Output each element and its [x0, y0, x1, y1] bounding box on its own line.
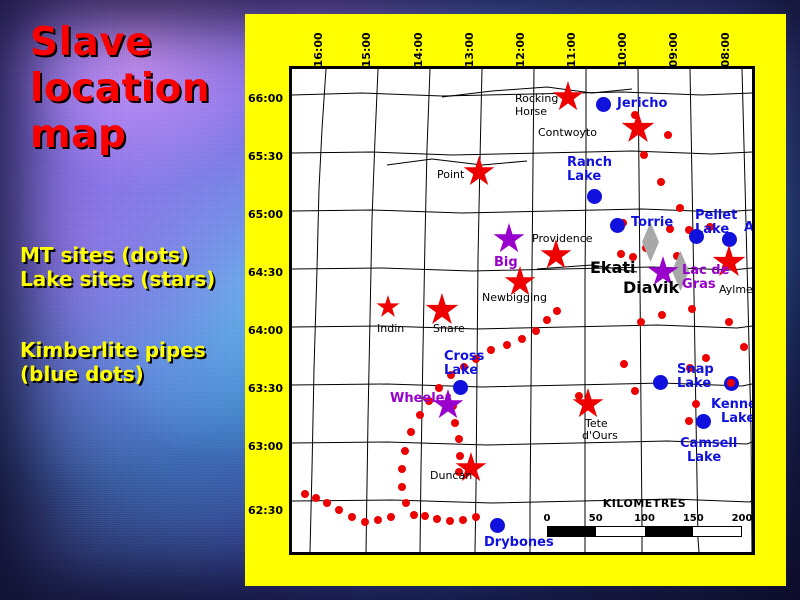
scale-tick-50: 50 [589, 513, 603, 524]
map-label-point: Point [437, 168, 464, 181]
mt-dot [398, 465, 406, 473]
lat-label-65-00: 65:00 [245, 208, 283, 221]
map-label-camsell: Camsell [680, 437, 737, 451]
lat-label-63-00: 63:00 [245, 440, 283, 453]
mt-dot [472, 513, 480, 521]
mt-dot [433, 515, 441, 523]
map-graticule [292, 69, 752, 552]
page-title-line-1: Slave [30, 20, 245, 66]
scale-tick-100: 100 [634, 513, 655, 524]
mt-dot [617, 250, 625, 258]
mt-dot [455, 435, 463, 443]
map-label-snare: Snare [433, 322, 465, 335]
page-title-line-2: location [30, 66, 245, 112]
map-label-camsell-lake: Lake [687, 451, 721, 465]
kimberlite-dot-cross-lake[interactable] [453, 380, 468, 395]
legend-lake-sites: Lake sites (stars) [20, 267, 250, 291]
lat-label-64-30: 64:30 [245, 266, 283, 279]
map-label-jericho: Jericho [617, 97, 667, 111]
map-label-indin: Indin [377, 322, 404, 335]
mt-dot [692, 400, 700, 408]
map-label-duncan: Duncan [430, 469, 472, 482]
map-label-kennedy-lake: Lake [721, 412, 752, 426]
mt-dot [401, 447, 409, 455]
mt-dot [637, 318, 645, 326]
kimberlite-dot-camsell-lake[interactable] [696, 414, 711, 429]
map-frame[interactable]: Rocking Horse Contwoyto Jericho Ranch La… [289, 66, 755, 555]
lat-label-66-00: 66:00 [245, 92, 283, 105]
mt-dot [640, 151, 648, 159]
map-label-big: Big [494, 256, 518, 270]
mt-dot [676, 204, 684, 212]
map-panel: 116:00 115:00 114:00 113:00 112:00 111:0… [245, 14, 786, 586]
mt-dot [416, 411, 424, 419]
mt-dot [657, 178, 665, 186]
mt-dot [725, 318, 733, 326]
kimberlite-dot-torrie[interactable] [610, 218, 625, 233]
map-label-pellet-lake: Lake [695, 223, 729, 237]
mt-dot [553, 307, 561, 315]
kimberlite-dot-jericho[interactable] [596, 97, 611, 112]
mt-dot [575, 392, 583, 400]
scale-segment [693, 527, 741, 536]
map-label-gras: Gras [682, 278, 716, 292]
scale-segment [596, 527, 644, 536]
kimberlite-dot-snap-lake[interactable] [653, 375, 668, 390]
legend-kimberlite-line-1: Kimberlite pipes [20, 338, 250, 362]
map-label-drybones: Drybones [484, 536, 554, 550]
mt-dot [446, 517, 454, 525]
scale-bar-graphic [547, 526, 742, 537]
map-label-pellet: Pellet [695, 209, 737, 223]
map-label-rocking: Rocking [515, 92, 558, 105]
mt-dot [402, 499, 410, 507]
map-label-wheeler: Wheeler [390, 392, 451, 406]
map-label-a44: A44 [744, 221, 752, 235]
scale-segment [645, 527, 693, 536]
legend-mt-sites: MT sites (dots) [20, 243, 250, 267]
map-label-diavik: Diavik [623, 278, 679, 297]
page-title: Slave location map [30, 20, 245, 158]
legend-sites: MT sites (dots) Lake sites (stars) [20, 243, 250, 291]
map-scale-bar: KILOMETRES 0 50 100 150 200 [547, 497, 742, 537]
mt-dot [407, 428, 415, 436]
slide-root: Slave location map MT sites (dots) Lake … [0, 0, 800, 600]
map-label-lac-de: Lac de [682, 264, 729, 278]
map-label-aylmer: Aylmer [719, 283, 752, 296]
mt-dot [487, 346, 495, 354]
mt-dot [451, 419, 459, 427]
map-label-horse: Horse [515, 105, 547, 118]
map-label-contwoyto: Contwoyto [538, 126, 597, 139]
mt-dot [702, 354, 710, 362]
map-label-providence: Providence [532, 232, 593, 245]
lat-label-62-30: 62:30 [245, 504, 283, 517]
mt-dot [301, 490, 309, 498]
lat-label-64-00: 64:00 [245, 324, 283, 337]
map-label-kennedy: Kennedy [711, 398, 752, 412]
mt-dot-kennedy-lake [727, 379, 735, 387]
mt-dot [518, 335, 526, 343]
lat-label-63-30: 63:30 [245, 382, 283, 395]
lat-label-65-30: 65:30 [245, 150, 283, 163]
mt-dot [543, 316, 551, 324]
map-label-newbigging: Newbigging [482, 291, 547, 304]
mt-dot [658, 311, 666, 319]
scale-tick-0: 0 [544, 513, 551, 524]
mt-dot [348, 513, 356, 521]
mt-dot [503, 341, 511, 349]
mt-dot [532, 327, 540, 335]
mt-dot [312, 494, 320, 502]
mt-dot [664, 131, 672, 139]
mt-dot [421, 512, 429, 520]
map-label-cross-lake: Lake [444, 364, 478, 378]
mt-dot [620, 360, 628, 368]
mt-dot [688, 305, 696, 313]
scale-segment [548, 527, 596, 536]
mt-dot [456, 452, 464, 460]
page-title-line-3: map [30, 112, 245, 158]
kimberlite-dot-drybones[interactable] [490, 518, 505, 533]
legend-kimberlite-line-2: (blue dots) [20, 362, 250, 386]
map-canvas: Rocking Horse Contwoyto Jericho Ranch La… [292, 69, 752, 552]
scale-tick-150: 150 [683, 513, 704, 524]
mt-dot [335, 506, 343, 514]
kimberlite-dot-ranch-lake[interactable] [587, 189, 602, 204]
scale-title: KILOMETRES [547, 497, 742, 510]
map-label-dours: d'Ours [582, 429, 618, 442]
scale-tick-200: 200 [732, 513, 752, 524]
map-label-snap: Snap [677, 363, 714, 377]
map-label-ranch-lake: Lake [567, 170, 601, 184]
mt-dot [361, 518, 369, 526]
mt-dot [387, 513, 395, 521]
mt-dot [740, 343, 748, 351]
mt-dot [685, 417, 693, 425]
legend-kimberlite: Kimberlite pipes (blue dots) [20, 338, 250, 386]
mt-dot [410, 511, 418, 519]
mt-dot [631, 387, 639, 395]
map-label-ekati: Ekati [590, 258, 636, 277]
mt-dot [374, 516, 382, 524]
map-label-snap-lake: Lake [677, 377, 711, 391]
mt-dot [398, 483, 406, 491]
map-label-ranch: Ranch [567, 156, 612, 170]
map-label-torrie: Torrie [631, 216, 673, 230]
mt-dot [323, 499, 331, 507]
map-label-cross: Cross [444, 350, 484, 364]
mt-dot [459, 516, 467, 524]
scale-tick-labels: 0 50 100 150 200 [547, 513, 742, 526]
